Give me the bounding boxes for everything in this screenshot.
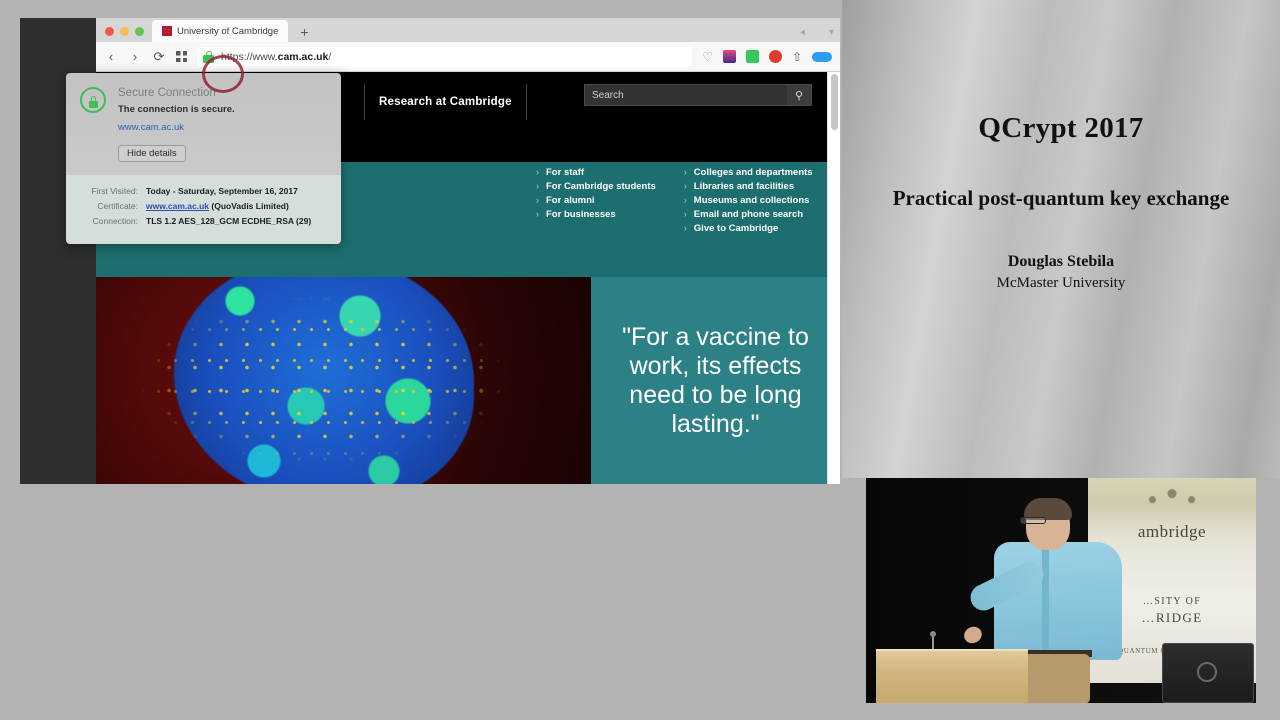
tab-bar-right-icons[interactable]: ◂ ▾ xyxy=(800,27,834,38)
speaker-affiliation: McMaster University xyxy=(997,275,1126,292)
nav-link[interactable]: ›For businesses xyxy=(536,209,656,220)
stage-monitor xyxy=(1162,643,1254,703)
search-input-placeholder[interactable]: Search xyxy=(585,90,787,101)
1password-icon[interactable] xyxy=(723,50,736,63)
detail-value: TLS 1.2 AES_128_GCM ECDHE_RSA (29) xyxy=(146,216,311,226)
nav-link[interactable]: ›For Cambridge students xyxy=(536,181,656,192)
talk-title-panel: QCrypt 2017 Practical post-quantum key e… xyxy=(842,0,1280,478)
chevron-right-icon: › xyxy=(536,195,539,205)
popup-site-link[interactable]: www.cam.ac.uk xyxy=(118,122,235,133)
speaker-shirt xyxy=(994,542,1122,660)
virus-particles-graphic xyxy=(96,277,591,484)
nav-link[interactable]: ›Give to Cambridge xyxy=(684,223,813,234)
tab-overview-icon[interactable] xyxy=(176,51,187,62)
chevron-right-icon: › xyxy=(684,209,687,219)
popup-details-section: First Visited: Today - Saturday, Septemb… xyxy=(66,175,341,244)
magnifier-icon[interactable]: ⚲ xyxy=(787,85,811,105)
hero-quote-text: "For a vaccine to work, its effects need… xyxy=(591,277,840,484)
nav-column-right: ›Colleges and departments ›Libraries and… xyxy=(684,167,813,234)
downloads-icon[interactable]: ▾ xyxy=(829,27,834,38)
site-nav-columns: ›For staff ›For Cambridge students ›For … xyxy=(536,167,813,234)
evernote-icon[interactable] xyxy=(746,50,759,63)
address-bar[interactable]: https://www.cam.ac.uk/ xyxy=(197,47,692,67)
detail-value: www.cam.ac.uk (QuoVadis Limited) xyxy=(146,201,289,211)
lock-icon[interactable] xyxy=(203,51,214,63)
chevron-right-icon: › xyxy=(684,223,687,233)
browser-tab-bar: University of Cambridge + ◂ ▾ xyxy=(96,18,840,42)
scrollbar-thumb[interactable] xyxy=(831,74,838,130)
window-controls[interactable] xyxy=(96,27,152,42)
adblock-icon[interactable] xyxy=(769,50,782,63)
blue-pill-toggle[interactable] xyxy=(812,52,832,62)
hero-section: "For a vaccine to work, its effects need… xyxy=(96,277,840,484)
detail-row: Certificate: www.cam.ac.uk (QuoVadis Lim… xyxy=(80,201,327,211)
nav-link[interactable]: ›For staff xyxy=(536,167,656,178)
speaker-name: Douglas Stebila xyxy=(1008,253,1114,271)
speaker-video-feed[interactable]: ambridge …SITY OF …RIDGE QUANTUM COMMUNI… xyxy=(866,478,1256,703)
nav-link[interactable]: ›Museums and collections xyxy=(684,195,813,206)
detail-row: Connection: TLS 1.2 AES_128_GCM ECDHE_RS… xyxy=(80,216,327,226)
site-search[interactable]: Search ⚲ xyxy=(584,84,812,106)
back-button[interactable]: ‹ xyxy=(104,50,118,63)
speaker-trousers xyxy=(1024,654,1090,703)
popup-subtitle: The connection is secure. xyxy=(118,104,235,115)
nav-column-left: ›For staff ›For Cambridge students ›For … xyxy=(536,167,656,234)
detail-value: Today - Saturday, September 16, 2017 xyxy=(146,186,298,196)
zoom-window-button[interactable] xyxy=(135,27,144,36)
research-at-cambridge-link[interactable]: Research at Cambridge xyxy=(364,84,527,120)
browser-tab-title: University of Cambridge xyxy=(177,26,278,37)
detail-label: Connection: xyxy=(80,216,138,226)
conference-name: QCrypt 2017 xyxy=(978,112,1143,145)
nav-link[interactable]: ›For alumni xyxy=(536,195,656,206)
reload-button[interactable]: ⟳ xyxy=(152,50,166,63)
nav-link[interactable]: ›Colleges and departments xyxy=(684,167,813,178)
share-icon[interactable]: ⇧ xyxy=(792,50,802,64)
podium xyxy=(876,649,1028,703)
shared-screen-area: University of Cambridge + ◂ ▾ ‹ › ⟳ http… xyxy=(20,18,840,484)
bookmark-icon[interactable]: ♡ xyxy=(702,50,713,64)
nav-link[interactable]: ›Libraries and facilities xyxy=(684,181,813,192)
popup-title: Secure Connection xyxy=(118,87,235,99)
speaker-glasses xyxy=(1020,517,1046,524)
close-window-button[interactable] xyxy=(105,27,114,36)
secure-lock-icon xyxy=(80,87,106,113)
chevron-right-icon: › xyxy=(684,167,687,177)
detail-label: First Visited: xyxy=(80,186,138,196)
popup-top-section: Secure Connection The connection is secu… xyxy=(66,73,341,175)
new-tab-button[interactable]: + xyxy=(288,25,318,42)
talk-title: Practical post-quantum key exchange xyxy=(893,185,1230,211)
chevron-right-icon: › xyxy=(684,195,687,205)
certificate-issuer: (QuoVadis Limited) xyxy=(211,201,288,211)
chevron-right-icon: › xyxy=(536,209,539,219)
chevron-right-icon: › xyxy=(684,181,687,191)
forward-button[interactable]: › xyxy=(128,50,142,63)
tab-count-icon[interactable]: ◂ xyxy=(800,27,805,38)
shirt-placket xyxy=(1042,548,1049,658)
minimize-window-button[interactable] xyxy=(120,27,129,36)
popup-arrow xyxy=(202,73,216,74)
chevron-right-icon: › xyxy=(536,167,539,177)
page-scrollbar[interactable] xyxy=(827,72,840,484)
address-bar-url: https://www.cam.ac.uk/ xyxy=(221,51,331,63)
banner-crest-icon xyxy=(1137,480,1207,514)
detail-label: Certificate: xyxy=(80,201,138,211)
browser-toolbar: ‹ › ⟳ https://www.cam.ac.uk/ ♡ ⇧ xyxy=(96,42,840,72)
certificate-link[interactable]: www.cam.ac.uk xyxy=(146,201,209,211)
detail-row: First Visited: Today - Saturday, Septemb… xyxy=(80,186,327,196)
nav-link[interactable]: ›Email and phone search xyxy=(684,209,813,220)
cambridge-crest-icon xyxy=(162,26,172,36)
browser-tab-active[interactable]: University of Cambridge xyxy=(152,20,288,42)
hero-image-virus-cell xyxy=(96,277,591,484)
chevron-right-icon: › xyxy=(536,181,539,191)
hide-details-button[interactable]: Hide details xyxy=(118,145,186,162)
secure-connection-popup: Secure Connection The connection is secu… xyxy=(66,73,341,244)
